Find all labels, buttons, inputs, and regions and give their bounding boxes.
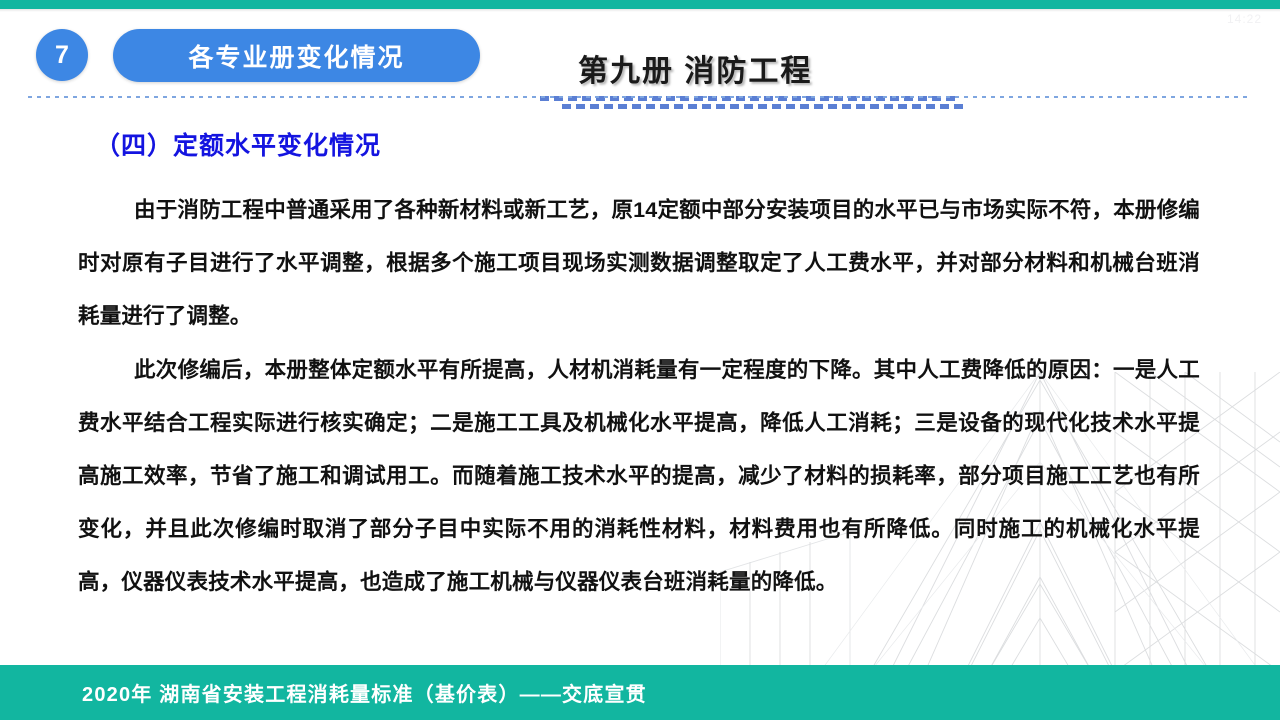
paragraph-1-text: 由于消防工程中普通采用了各种新材料或新工艺，原14定额中部分安装项目的水平已与市…	[78, 198, 1200, 328]
header-dotted-divider	[28, 96, 1252, 98]
footer-text: 2020年 湖南省安装工程消耗量标准（基价表）——交底宣贯	[82, 678, 647, 707]
section-number-badge: 7	[36, 29, 88, 81]
book-title: 第九册 消防工程	[578, 46, 812, 90]
top-accent-bar-shadow	[0, 9, 1280, 12]
paragraph-2-text: 此次修编后，本册整体定额水平有所提高，人材机消耗量有一定程度的下降。其中人工费降…	[78, 358, 1200, 594]
slide-footer: 2020年 湖南省安装工程消耗量标准（基价表）——交底宣贯	[0, 665, 1280, 720]
section-pill-title: 各专业册变化情况	[113, 29, 480, 82]
content-paragraph-1: 由于消防工程中普通采用了各种新材料或新工艺，原14定额中部分安装项目的水平已与市…	[78, 184, 1200, 343]
title-underline-decor-bottom	[562, 104, 966, 109]
presentation-slide: 14:22	[0, 0, 1280, 720]
slide-header: 7 各专业册变化情况 第九册 消防工程	[0, 20, 1280, 90]
content-subheading: （四）定额水平变化情况	[95, 126, 381, 162]
content-paragraph-2: 此次修编后，本册整体定额水平有所提高，人材机消耗量有一定程度的下降。其中人工费降…	[78, 344, 1200, 609]
top-accent-bar	[0, 0, 1280, 9]
